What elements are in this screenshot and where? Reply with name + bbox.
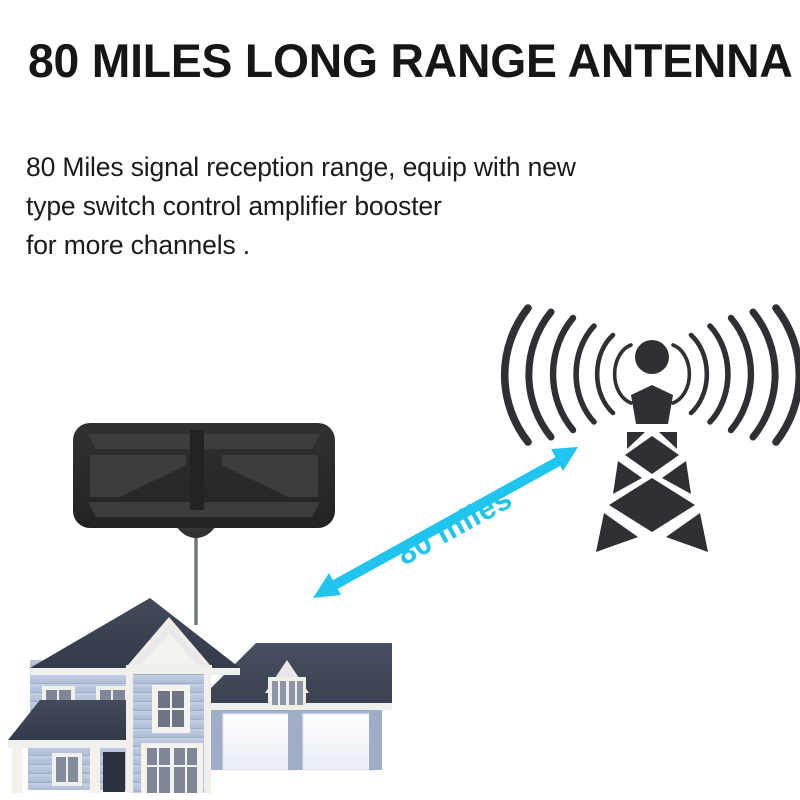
poster-canvas: 80 MILES LONG RANGE ANTENNA 80 Miles sig…: [0, 0, 800, 800]
porch-roof-fascia: [8, 740, 146, 748]
illustration: 80 miles: [0, 0, 800, 800]
porch-column-mid: [90, 745, 100, 793]
house-illustration: [8, 598, 392, 793]
porch-column-left: [12, 745, 22, 793]
tower-beacon-dot: [635, 340, 669, 374]
distance-arrow: 80 miles: [313, 447, 578, 598]
porch-roof: [8, 700, 146, 740]
indoor-antenna: [73, 423, 335, 625]
signal-waves-left: [505, 308, 631, 442]
garage-door-right: [303, 714, 375, 770]
tower-cap: [631, 385, 673, 424]
corner-trim-right: [204, 665, 211, 793]
distance-label: 80 miles: [390, 480, 517, 572]
front-door: [103, 752, 125, 792]
signal-waves-right: [673, 308, 799, 442]
antenna-center-stem: [190, 430, 204, 510]
garage-door-left: [223, 714, 295, 770]
broadcast-tower-icon: [505, 308, 800, 552]
garage-pillar-right: [369, 710, 382, 770]
center-gable-trim-band: [126, 665, 212, 674]
garage-pillar-mid: [288, 710, 302, 770]
corner-trim-left: [126, 665, 133, 793]
